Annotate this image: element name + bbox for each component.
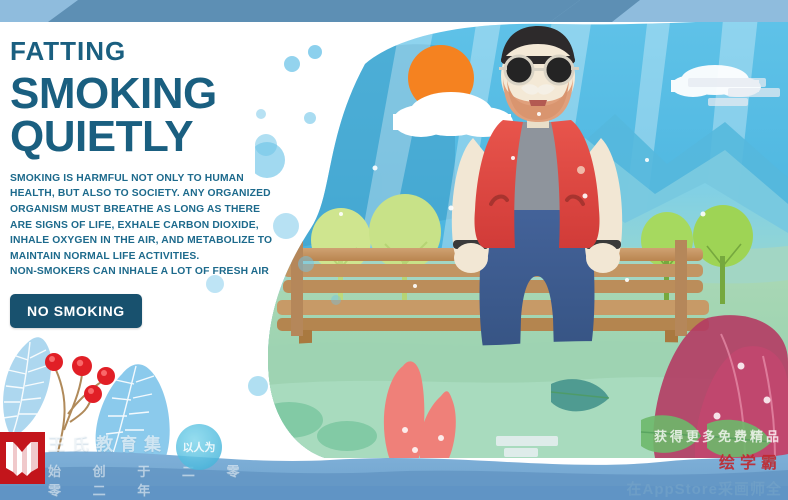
headline-line-2: QUIETLY bbox=[10, 116, 300, 159]
kicker-text: FATTING bbox=[10, 38, 300, 65]
body-line: MAINTAIN NORMAL LIFE ACTIVITIES. bbox=[10, 249, 300, 265]
park-scene-illustration bbox=[255, 18, 788, 458]
top-decorative-band bbox=[0, 0, 788, 24]
body-line: ARE SIGNS OF LIFE, EXHALE CARBON DIOXIDE… bbox=[10, 218, 300, 234]
body-line: SMOKING IS HARMFUL NOT ONLY TO HUMAN bbox=[10, 171, 300, 187]
brand-logo[interactable] bbox=[0, 432, 45, 484]
bottom-decorative-band bbox=[0, 440, 788, 500]
poster-canvas: FATTING SMOKING QUIETLY SMOKING IS HARMF… bbox=[0, 0, 788, 500]
body-paragraph: SMOKING IS HARMFUL NOT ONLY TO HUMAN HEA… bbox=[10, 171, 300, 280]
page-title: SMOKING QUIETLY bbox=[10, 73, 300, 158]
body-line: INHALE OXYGEN IN THE AIR, AND METABOLIZE… bbox=[10, 233, 300, 249]
w-monogram-icon bbox=[0, 432, 45, 484]
body-line: NON-SMOKERS CAN INHALE A LOT OF FRESH AI… bbox=[10, 264, 300, 280]
headline-line-1: SMOKING bbox=[10, 73, 300, 116]
copy-column: FATTING SMOKING QUIETLY SMOKING IS HARMF… bbox=[10, 38, 300, 328]
body-line: ORGANISM MUST BREATHE AS LONG AS THERE bbox=[10, 202, 300, 218]
leaf-icon bbox=[3, 337, 51, 438]
no-smoking-button[interactable]: NO SMOKING bbox=[10, 294, 142, 328]
body-line: HEALTH, BUT ALSO TO SOCIETY. ANY ORGANIZ… bbox=[10, 186, 300, 202]
